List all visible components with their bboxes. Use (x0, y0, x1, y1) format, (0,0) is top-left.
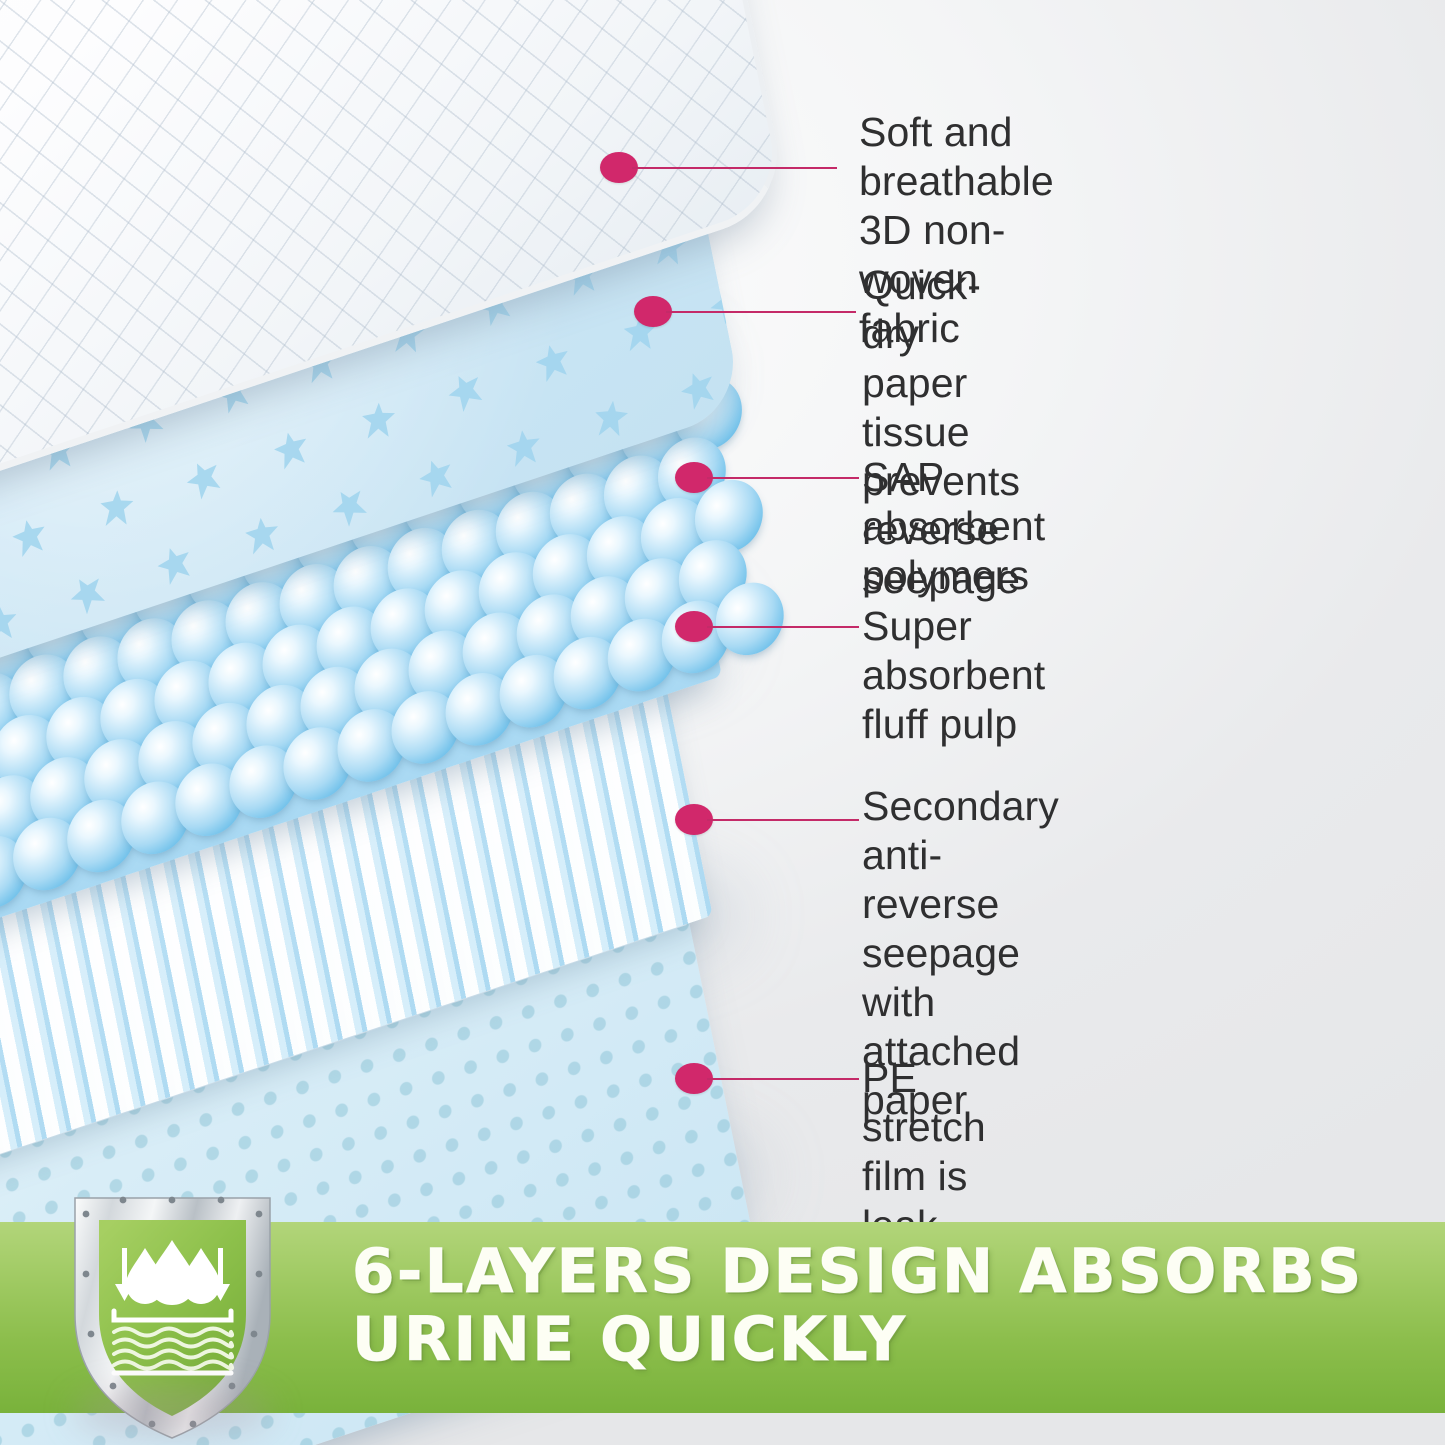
callout-leader-5 (707, 819, 859, 821)
callout-label-4: Super absorbent fluff pulp (862, 602, 1045, 749)
callout-leader-1 (632, 167, 837, 169)
callout-leader-4 (707, 626, 859, 628)
callout-leader-6 (707, 1078, 859, 1080)
callout-leader-2 (666, 311, 856, 313)
absorbency-shield-badge (55, 1186, 290, 1445)
banner-headline: 6-LAYERS DESIGN ABSORBS URINE QUICKLY (352, 1238, 1412, 1374)
shield-drop-shadow (73, 1386, 273, 1438)
callout-label-3: SAP absorbent polymers (862, 453, 1045, 600)
callout-leader-3 (707, 477, 859, 479)
infographic-canvas: Soft and breathable 3D non-woven fabric … (0, 0, 1445, 1445)
